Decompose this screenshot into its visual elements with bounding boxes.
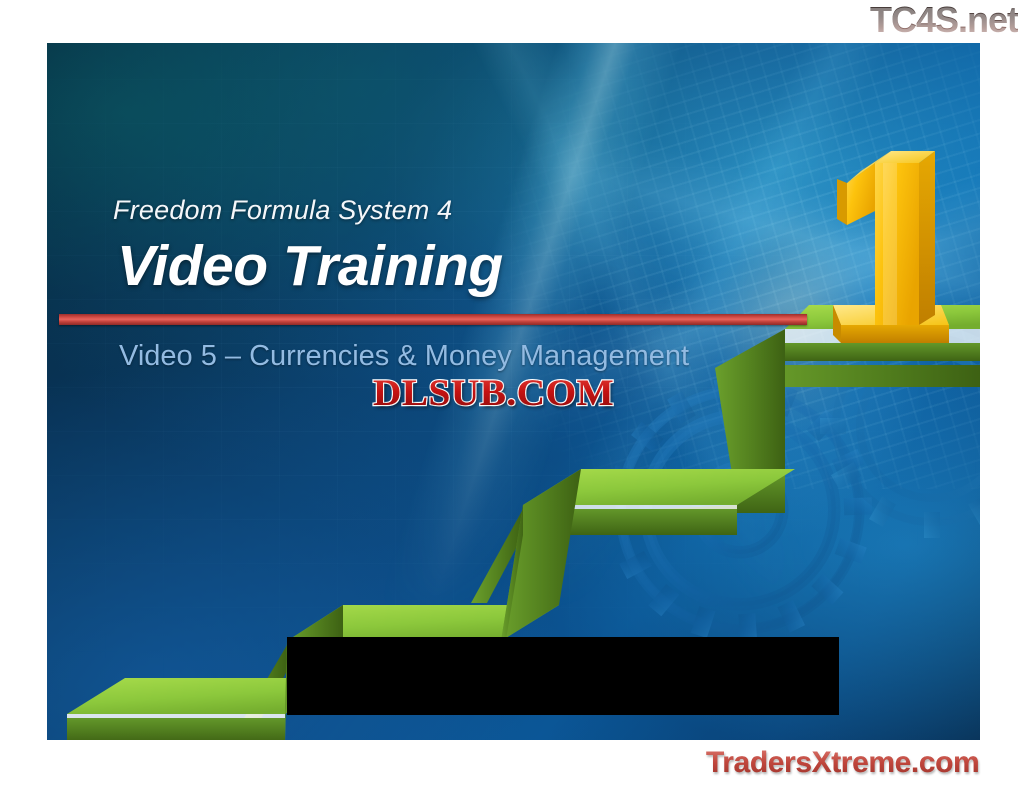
tc4s-brand-watermark: TC4S.net: [870, 2, 1018, 38]
presentation-slide: Freedom Formula System 4 Video Training …: [47, 43, 980, 740]
tradersxtreme-watermark: TradersXtreme.comTradersXtreme.com: [706, 748, 979, 778]
staircase-icon: [47, 43, 980, 740]
number-one-3d-icon: [833, 151, 949, 343]
tradersxtreme-watermark-fill: TradersXtreme.com: [706, 748, 979, 778]
